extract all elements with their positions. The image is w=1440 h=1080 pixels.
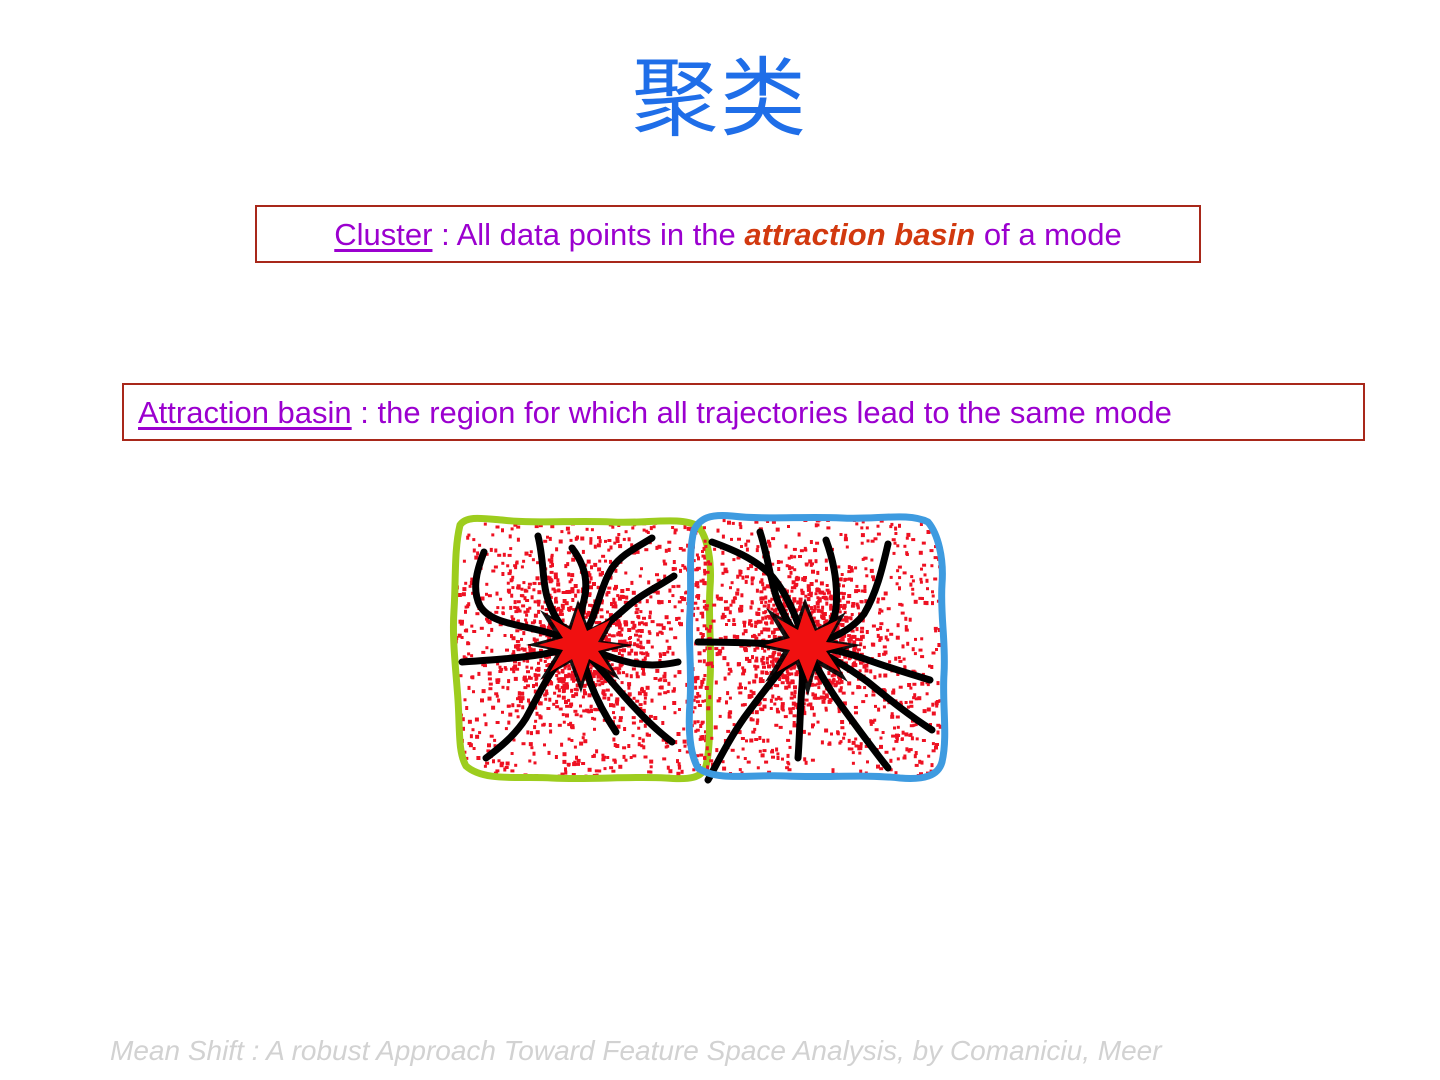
left-basin-group xyxy=(453,517,715,784)
callout-attraction-basin-separator: : xyxy=(352,395,378,430)
slide-canvas: 聚类 Cluster : All data points in the attr… xyxy=(0,0,1440,1080)
callout-cluster-separator: : xyxy=(432,217,456,252)
callout-cluster-emphasis: attraction basin xyxy=(744,217,975,252)
callout-cluster-text: Cluster : All data points in the attract… xyxy=(334,219,1121,250)
callout-attraction-basin-text: Attraction basin : the region for which … xyxy=(138,397,1172,428)
callout-cluster-text-before: All data points in the xyxy=(457,217,745,252)
callout-cluster-term: Cluster xyxy=(334,217,432,252)
callout-attraction-basin: Attraction basin : the region for which … xyxy=(122,383,1365,441)
attraction-basin-figure xyxy=(440,490,960,800)
right-basin-group xyxy=(688,512,951,785)
callout-cluster-text-after: of a mode xyxy=(975,217,1121,252)
callout-attraction-basin-term: Attraction basin xyxy=(138,395,352,430)
callout-cluster: Cluster : All data points in the attract… xyxy=(255,205,1201,263)
callout-attraction-basin-text-before: the region for which all trajectories le… xyxy=(378,395,1172,430)
footer-citation: Mean Shift : A robust Approach Toward Fe… xyxy=(110,1035,1162,1067)
basins-diagram xyxy=(440,490,960,800)
page-title: 聚类 xyxy=(0,52,1440,147)
